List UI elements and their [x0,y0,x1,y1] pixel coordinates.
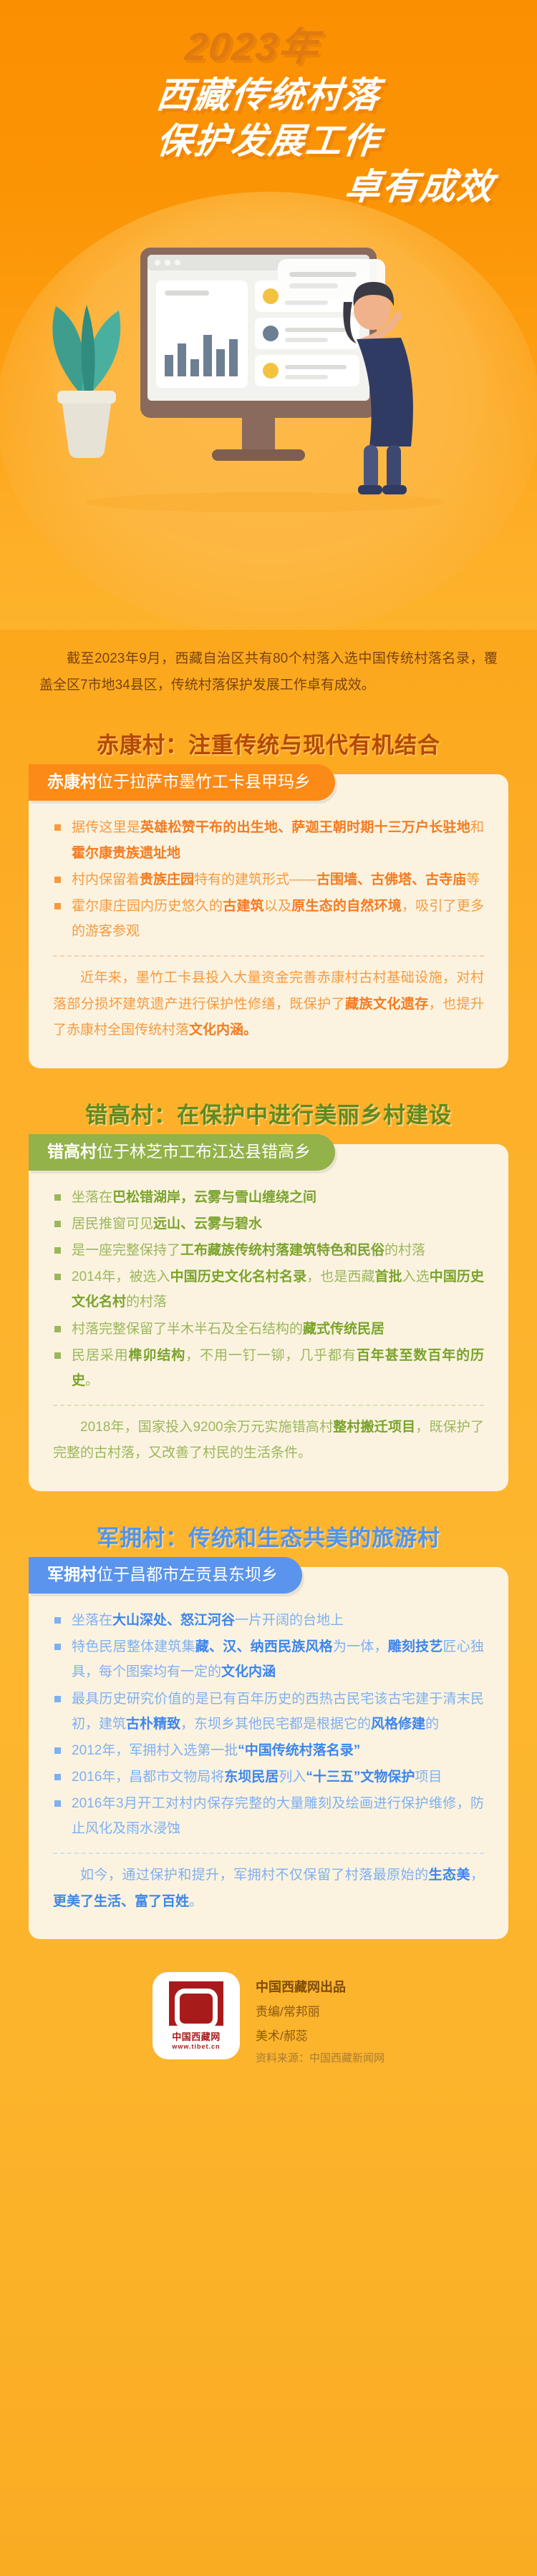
body-text: 特有的建筑形式—— [194,872,316,887]
hero-title-line-1: 西藏传统村落 [0,72,537,118]
highlight-text: 大山深处、怒江河谷 [112,1613,235,1628]
hero-title-group: 2023年 西藏传统村落 保护发展工作 卓有成效 [0,0,537,210]
body-text: 坐落在 [72,1190,112,1205]
village-name: 军拥村 [47,1565,97,1584]
highlight-text: 霍尔康贵族遗址地 [72,846,180,861]
section-1: 赤康村：注重传统与现代有机结合赤康村位于拉萨市墨竹工卡县甲玛乡据传这里是英雄松赞… [0,723,537,1068]
highlight-text: 生态美 [429,1868,470,1883]
logo-url: www.tibet.cn [172,2043,220,2050]
logo-glyph-icon [169,1981,223,2026]
list-item: 2016年，昌都市文物局将东坝民居列入“十三五”文物保护项目 [53,1765,484,1790]
body-text: 坐落在 [72,1613,112,1628]
highlight-text: 更美了生活、富了百姓 [53,1894,189,1909]
village-name: 赤康村 [47,772,97,791]
dashed-divider [53,1405,484,1406]
body-text: 村落完整保留了半木半石及全石结构的 [72,1322,303,1337]
highlight-text: 远山、云雾与碧水 [153,1216,262,1231]
list-item: 最具历史研究价值的是已有百年历史的西热古民宅该古宅建于清末民初，建筑古朴精致，东… [53,1687,484,1737]
body-text: 入选 [402,1269,430,1284]
fact-list: 据传这里是英雄松赞干布的出生地、萨迦王朝时期十三万户长驻地和霍尔康贵族遗址地村内… [29,811,508,944]
list-item: 2016年3月开工对村内保存完整的大量雕刻及绘画进行保护维修，防止风化及雨水浸蚀 [53,1791,484,1841]
tibet-net-logo: 中国西藏网 www.tibet.cn [153,1972,240,2059]
highlight-text: 古建筑 [223,899,264,914]
body-text: 的村落 [126,1294,167,1309]
section-card: 赤康村位于拉萨市墨竹工卡县甲玛乡据传这里是英雄松赞干布的出生地、萨迦王朝时期十三… [29,774,508,1068]
body-text: 以及 [264,899,291,914]
hero-title-line-3: 卓有成效 [0,164,537,210]
village-location: 位于林芝市工布江达县错高乡 [97,1142,311,1161]
highlight-text: 古围墙、古佛塔、古寺庙 [316,872,466,887]
body-text: 民居采用 [72,1348,129,1363]
highlight-text: “中国传统村落名录” [238,1743,360,1758]
body-text: 为一体， [333,1639,388,1654]
body-text: 。 [85,1373,99,1388]
list-item: 民居采用榫卯结构，不用一钉一铆，几乎都有百年甚至数百年的历史。 [53,1343,484,1393]
section-3: 军拥村：传统和生态共美的旅游村军拥村位于昌都市左贡县东坝乡坐落在大山深处、怒江河… [0,1516,537,1940]
list-item: 坐落在巴松错湖岸，云雾与雪山缠绕之间 [53,1185,484,1210]
footer-designer: 美术/郝蕊 [256,2024,384,2048]
list-item: 霍尔康庄园内历史悠久的古建筑以及原生态的自然环境，吸引了更多的游客参观 [53,894,484,944]
village-location: 位于拉萨市墨竹工卡县甲玛乡 [97,772,311,791]
footer-credits: 中国西藏网出品 责编/常邦丽 美术/郝蕊 资料来源：中国西藏新闻网 [256,1972,384,2069]
summary-note: 如今，通过保护和提升，军拥村不仅保留了村落最原始的生态美，更美了生活、富了百姓。 [29,1863,508,1915]
highlight-text: 英雄松赞干布的出生地、萨迦王朝时期十三万户长驻地 [140,820,470,835]
highlight-text: “十三五”文物保护 [306,1770,415,1785]
list-item: 村内保留着贵族庄园特有的建筑形式——古围墙、古佛塔、古寺庙等 [53,867,484,892]
highlight-text: 中国历史文化名村名录 [170,1269,307,1284]
highlight-text: 藏式传统民居 [303,1322,384,1337]
footer-producer: 中国西藏网出品 [256,1975,384,2000]
body-text: ，也是西藏 [306,1269,374,1284]
body-text: 列入 [279,1770,306,1785]
fact-list: 坐落在大山深处、怒江河谷一片开阔的台地上特色民居整体建筑集藏、汉、纳西民族风格为… [29,1604,508,1841]
list-item: 2012年，军拥村入选第一批“中国传统村落名录” [53,1738,484,1763]
list-item: 是一座完整保持了工布藏族传统村落建筑特色和民俗的村落 [53,1238,484,1263]
body-text: 等 [466,872,480,887]
highlight-text: 贵族庄园 [140,872,194,887]
body-text: 和 [470,820,484,835]
highlight-text: 藏族文化遗存 [345,997,429,1012]
body-text: 的 [425,1717,439,1732]
highlight-text: 风格修建 [371,1717,425,1732]
list-item: 村落完整保留了半木半石及全石结构的藏式传统民居 [53,1317,484,1342]
hero-title-line-2: 保护发展工作 [0,118,537,164]
highlight-text: 文化内涵。 [189,1023,257,1038]
body-text: 2014年，被选入 [72,1269,170,1284]
list-item: 2014年，被选入中国历史文化名村名录，也是西藏首批入选中国历史文化名村的村落 [53,1264,484,1314]
body-text: 村内保留着 [72,872,140,887]
dashed-divider [53,955,484,957]
body-text: 2012年，军拥村入选第一批 [72,1743,238,1758]
body-text: 如今，通过保护和提升，军拥村不仅保留了村落最原始的 [80,1868,429,1883]
list-item: 特色民居整体建筑集藏、汉、纳西民族风格为一体，雕刻技艺匠心独具，每个图案均有一定… [53,1634,484,1684]
body-text: 2016年，昌都市文物局将 [72,1770,224,1785]
village-name: 错高村 [47,1142,97,1161]
body-text: 据传这里是 [72,820,140,835]
body-text: ，不用一钉一铆，几乎都有 [185,1348,357,1363]
intro-text: 截至2023年9月，西藏自治区共有80个村落入选中国传统村落名录，覆盖全区7市地… [39,645,498,698]
list-item: 居民推窗可见远山、云雾与碧水 [53,1211,484,1236]
body-text: ，东坝乡其他民宅都是根据它的 [180,1717,371,1732]
hero-illustration [0,222,537,522]
highlight-text: 藏、汉、纳西民族风格 [195,1639,333,1654]
footer: 中国西藏网 www.tibet.cn 中国西藏网出品 责编/常邦丽 美术/郝蕊 … [0,1972,537,2112]
village-location: 位于昌都市左贡县东坝乡 [97,1565,278,1584]
highlight-text: 榫卯结构 [129,1348,186,1363]
highlight-text: 整村搬迁项目 [333,1420,415,1435]
body-text: 。 [189,1894,203,1909]
body-text: 一片开阔的台地上 [235,1613,344,1628]
footer-source: 资料来源：中国西藏新闻网 [256,2048,384,2069]
sections-container: 赤康村：注重传统与现代有机结合赤康村位于拉萨市墨竹工卡县甲玛乡据传这里是英雄松赞… [0,723,537,1939]
location-tag: 军拥村位于昌都市左贡县东坝乡 [29,1557,302,1594]
highlight-text: 古朴精致 [126,1717,180,1732]
body-text: 霍尔康庄园内历史悠久的 [72,899,223,914]
location-tag: 赤康村位于拉萨市墨竹工卡县甲玛乡 [29,764,335,801]
fact-list: 坐落在巴松错湖岸，云雾与雪山缠绕之间居民推窗可见远山、云雾与碧水是一座完整保持了… [29,1181,508,1393]
body-text: 2018年，国家投入9200余万元实施错高村 [80,1420,333,1435]
section-card: 军拥村位于昌都市左贡县东坝乡坐落在大山深处、怒江河谷一片开阔的台地上特色民居整体… [29,1567,508,1939]
highlight-text: 首批 [375,1269,402,1284]
section-2: 错高村：在保护中进行美丽乡村建设错高村位于林芝市工布江达县错高乡坐落在巴松错湖岸… [0,1093,537,1491]
body-text: ， [470,1868,484,1883]
hero-banner: 2023年 西藏传统村落 保护发展工作 卓有成效 [0,0,537,630]
summary-note: 近年来，墨竹工卡县投入大量资金完善赤康村古村基础设施，对村落部分损坏建筑遗产进行… [29,965,508,1043]
highlight-text: 原生态的自然环境 [291,899,402,914]
list-item: 坐落在大山深处、怒江河谷一片开阔的台地上 [53,1608,484,1633]
body-text: 居民推窗可见 [72,1216,153,1231]
plant-illustration [52,305,120,458]
highlight-text: 工布藏族传统村落建筑特色和民俗 [180,1243,384,1258]
body-text: 的村落 [384,1243,425,1258]
section-card: 错高村位于林芝市工布江达县错高乡坐落在巴松错湖岸，云雾与雪山缠绕之间居民推窗可见… [29,1144,508,1491]
list-item: 据传这里是英雄松赞干布的出生地、萨迦王朝时期十三万户长驻地和霍尔康贵族遗址地 [53,815,484,865]
footer-editor: 责编/常邦丽 [256,2000,384,2024]
logo-name: 中国西藏网 [172,2029,221,2043]
body-text: 项目 [415,1770,442,1785]
summary-note: 2018年，国家投入9200余万元实施错高村整村搬迁项目，既保护了完整的古村落，… [29,1415,508,1467]
hero-year: 2023年 [183,26,322,68]
body-text: 2016年3月开工对村内保存完整的大量雕刻及绘画进行保护维修，防止风化及雨水浸蚀 [72,1796,484,1836]
highlight-text: 雕刻技艺 [388,1639,443,1654]
highlight-text: 东坝民居 [224,1770,279,1785]
body-text: 是一座完整保持了 [72,1243,180,1258]
intro-paragraph: 截至2023年9月，西藏自治区共有80个村落入选中国传统村落名录，覆盖全区7市地… [39,630,498,698]
location-tag: 错高村位于林芝市工布江达县错高乡 [29,1134,335,1171]
dashed-divider [53,1853,484,1854]
highlight-text: 巴松错湖岸，云雾与雪山缠绕之间 [112,1190,316,1205]
highlight-text: 文化内涵 [221,1664,276,1679]
body-text: 特色民居整体建筑集 [72,1639,195,1654]
